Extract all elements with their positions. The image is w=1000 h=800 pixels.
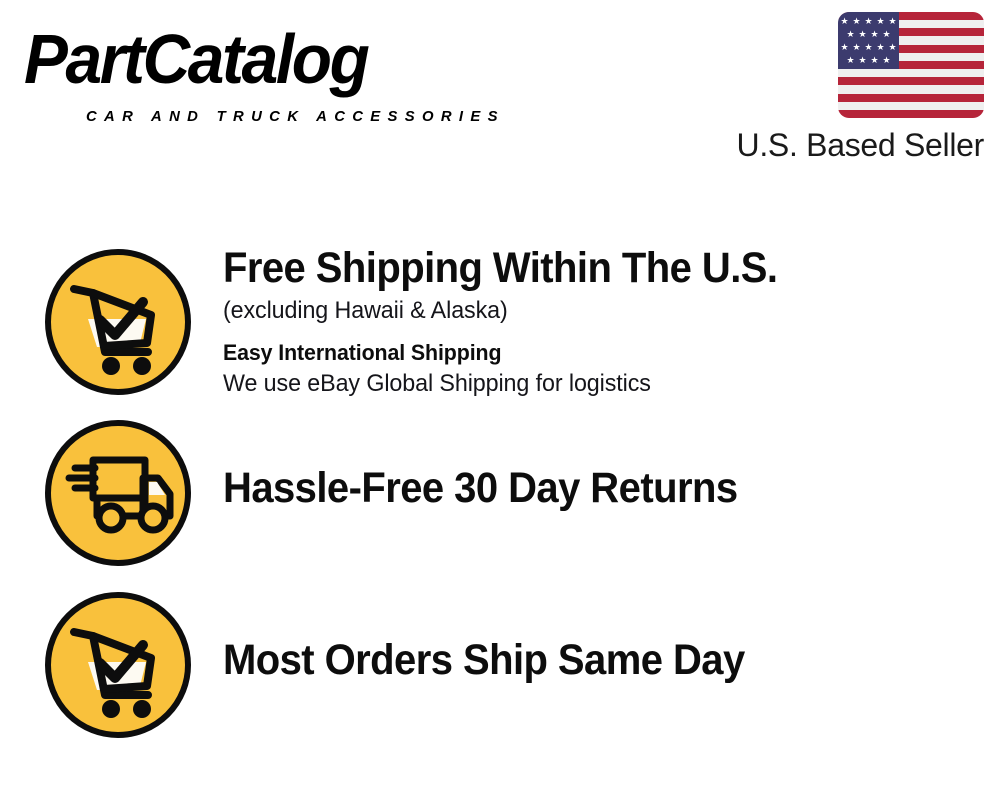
feature-headline: Free Shipping Within The U.S.	[223, 243, 930, 293]
flag-star: ★	[877, 43, 885, 52]
feature-note: (excluding Hawaii & Alaska)	[223, 295, 960, 327]
flag-star: ★	[883, 30, 891, 39]
flag-stripe	[838, 69, 984, 77]
feature-item-returns: Hassle-Free 30 Day Returns	[43, 418, 983, 578]
flag-star: ★	[871, 56, 879, 65]
brand-logo[interactable]: PartCatalog CAR AND TRUCK ACCESSORIES	[24, 22, 494, 117]
delivery-truck-icon	[43, 418, 193, 568]
feature-headline: Hassle-Free 30 Day Returns	[223, 463, 930, 513]
flag-star: ★	[889, 17, 897, 26]
shopping-cart-check-icon	[43, 590, 193, 740]
flag-stripe	[838, 94, 984, 102]
flag-star: ★	[841, 43, 849, 52]
us-based-seller-badge: ★ ★ ★ ★ ★ ★ ★ ★ ★ ★ ★ ★ ★ ★	[838, 12, 984, 118]
brand-logo-wordmark: PartCatalog	[24, 22, 466, 96]
feature-item-free-shipping: Free Shipping Within The U.S. (excluding…	[43, 247, 983, 407]
header-banner: PartCatalog CAR AND TRUCK ACCESSORIES ★ …	[0, 0, 1000, 170]
brand-logo-tagline: CAR AND TRUCK ACCESSORIES	[86, 108, 505, 125]
flag-stripe	[838, 85, 984, 93]
flag-star: ★	[841, 17, 849, 26]
flag-star: ★	[871, 30, 879, 39]
flag-star: ★	[865, 43, 873, 52]
flag-star: ★	[853, 43, 861, 52]
feature-subtext: We use eBay Global Shipping for logistic…	[223, 368, 960, 400]
flag-star: ★	[859, 30, 867, 39]
flag-star: ★	[859, 56, 867, 65]
flag-star: ★	[853, 17, 861, 26]
us-based-seller-label: U.S. Based Seller	[737, 126, 984, 164]
feature-subheading: Easy International Shipping	[223, 338, 960, 368]
flag-star: ★	[883, 56, 891, 65]
us-flag-icon: ★ ★ ★ ★ ★ ★ ★ ★ ★ ★ ★ ★ ★ ★	[838, 12, 984, 118]
flag-star: ★	[847, 56, 855, 65]
flag-stripe	[838, 110, 984, 118]
flag-star: ★	[889, 43, 897, 52]
flag-star: ★	[877, 17, 885, 26]
feature-item-same-day-ship: Most Orders Ship Same Day	[43, 590, 983, 750]
flag-star: ★	[865, 17, 873, 26]
flag-star: ★	[847, 30, 855, 39]
flag-stripe	[838, 77, 984, 85]
flag-stripe	[838, 102, 984, 110]
feature-headline: Most Orders Ship Same Day	[223, 635, 930, 685]
flag-canton: ★ ★ ★ ★ ★ ★ ★ ★ ★ ★ ★ ★ ★ ★	[838, 12, 899, 69]
shopping-cart-check-icon	[43, 247, 193, 397]
